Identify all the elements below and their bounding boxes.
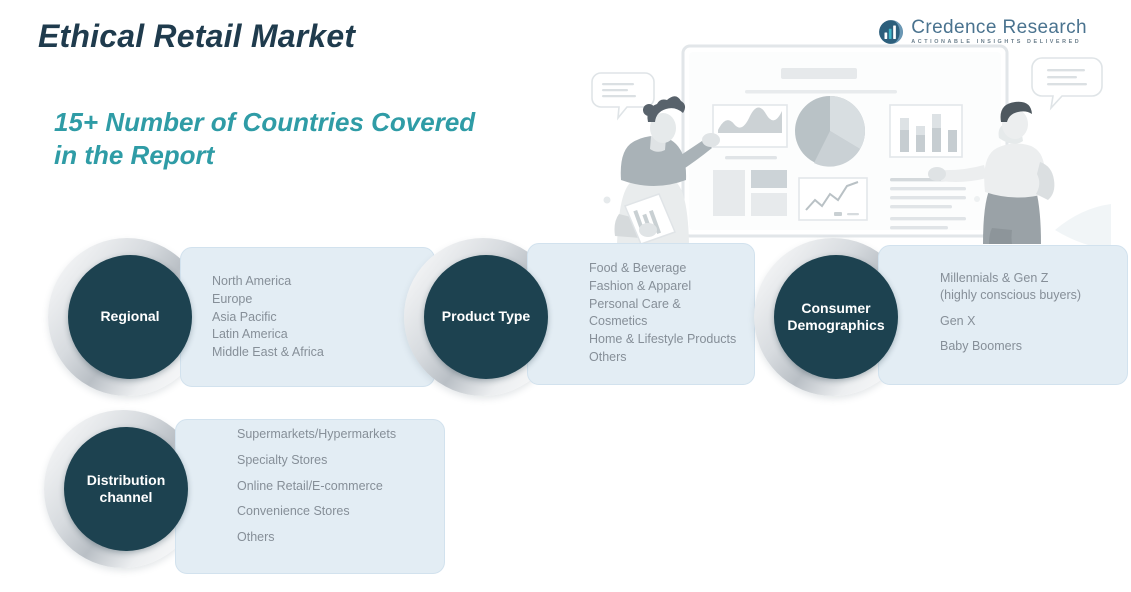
text-lines (890, 178, 966, 229)
trend-chart-panel (799, 178, 867, 220)
list-item: Online Retail/E-commerce (237, 478, 399, 495)
logo-tagline: Actionable Insights Delivered (911, 40, 1087, 45)
line-chart-panel (713, 105, 787, 159)
page-title: Ethical Retail Market (38, 18, 355, 55)
segment-item-list: Supermarkets/Hypermarkets Specialty Stor… (237, 426, 399, 546)
list-item: Fashion & Apparel (589, 278, 739, 296)
list-item: Gen X (940, 313, 1088, 330)
list-item: Supermarkets/Hypermarkets (237, 426, 399, 443)
list-item: North America (212, 273, 427, 291)
placeholder-blocks (713, 170, 787, 216)
leaf-decoration (1055, 204, 1111, 250)
segment-circle-label[interactable]: Regional (68, 255, 192, 379)
list-item: Specialty Stores (237, 452, 399, 469)
list-item: Others (237, 529, 399, 546)
segment-circle-label[interactable]: Consumer Demographics (774, 255, 898, 379)
speech-bubble-right (1032, 58, 1102, 108)
brand-logo[interactable]: Credence Research Actionable Insights De… (878, 18, 1087, 45)
segment-item-list: Millennials & Gen Z (highly conscious bu… (940, 270, 1088, 355)
segment-item-list: North America Europe Asia Pacific Latin … (212, 273, 427, 362)
list-item: Food & Beverage (589, 260, 739, 278)
pie-chart (795, 96, 865, 167)
list-item: Asia Pacific (212, 309, 427, 327)
list-item: Latin America (212, 326, 427, 344)
list-item: Personal Care & Cosmetics (589, 296, 739, 332)
bar-chart-panel (890, 105, 962, 157)
list-item: Home & Lifestyle Products (589, 331, 739, 349)
segment-title: Consumer Demographics (774, 300, 898, 335)
bar-chart-circle-icon (878, 19, 904, 45)
list-item: Others (589, 349, 739, 367)
logo-company-name: Credence Research (911, 18, 1087, 37)
list-item: Convenience Stores (237, 503, 399, 520)
list-item: Millennials & Gen Z (highly conscious bu… (940, 270, 1088, 304)
segment-circle-label[interactable]: Product Type (424, 255, 548, 379)
list-item: Baby Boomers (940, 338, 1088, 355)
whiteboard-screen (683, 46, 1007, 236)
presenter-man (928, 102, 1054, 244)
document-sheet (625, 194, 675, 244)
page-subtitle: 15+ Number of Countries Covered in the R… (54, 106, 484, 173)
segment-title: Product Type (442, 308, 530, 326)
segment-title: Distribution channel (64, 472, 188, 507)
list-item: Europe (212, 291, 427, 309)
speech-bubble-left (592, 73, 654, 118)
dot-decoration (604, 197, 611, 204)
dot-decoration (974, 196, 980, 202)
segment-title: Regional (100, 308, 159, 326)
list-item: Middle East & Africa (212, 344, 427, 362)
presenter-woman (615, 96, 721, 244)
segment-circle-label[interactable]: Distribution channel (64, 427, 188, 551)
segment-item-list: Food & Beverage Fashion & Apparel Person… (589, 260, 739, 367)
